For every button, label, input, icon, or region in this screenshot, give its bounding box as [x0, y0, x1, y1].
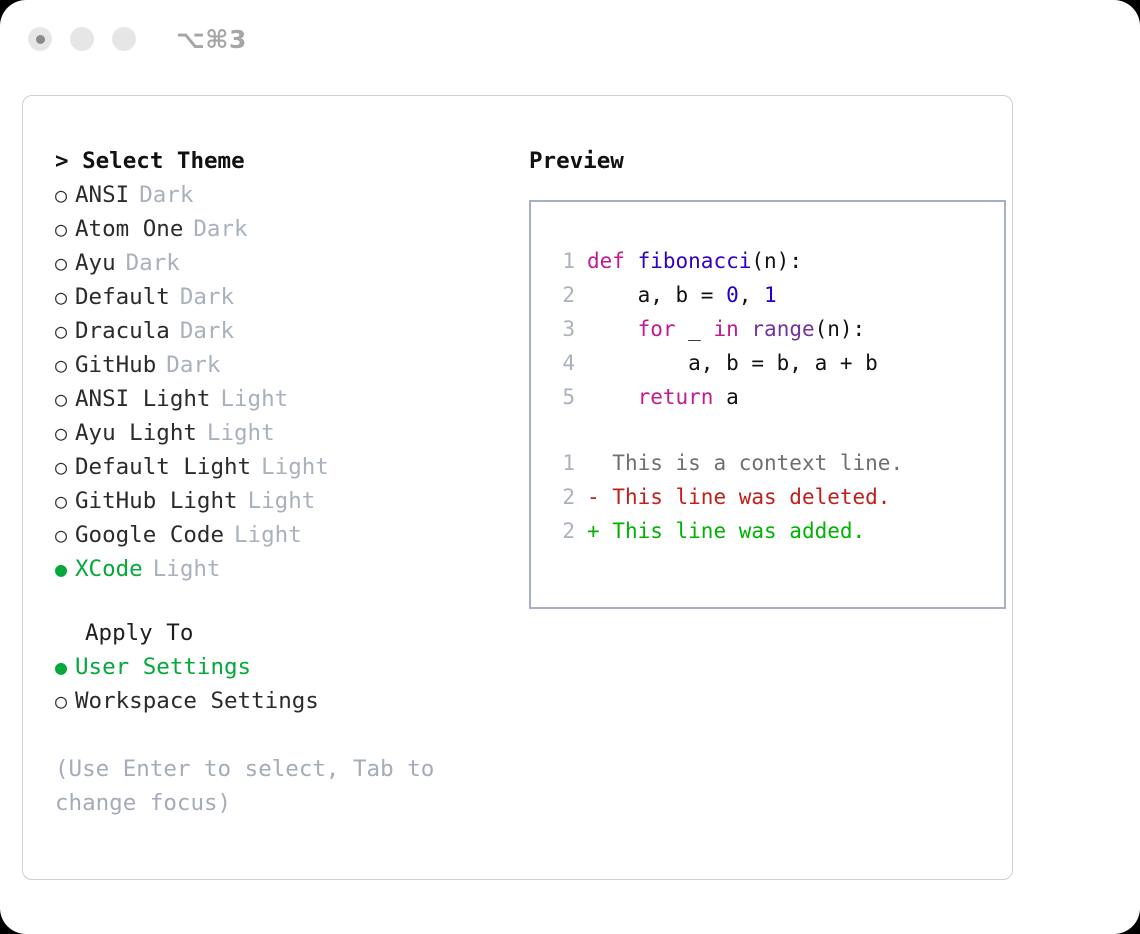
radio-unselected-icon: ○	[55, 416, 75, 450]
code-token: a, b =	[587, 283, 726, 307]
theme-option-variant: Light	[234, 518, 302, 552]
code-line-number: 3	[549, 312, 575, 346]
code-token: range	[751, 317, 814, 341]
code-line: 4 a, b = b, a + b	[549, 346, 1004, 380]
code-token	[739, 317, 752, 341]
radio-unselected-icon: ○	[55, 348, 75, 382]
code-token: (n):	[815, 317, 866, 341]
theme-option-label: GitHub Light	[75, 484, 238, 518]
preview-column: Preview 1def fibonacci(n):2 a, b = 0, 13…	[509, 144, 1012, 879]
diff-line-number: 2	[549, 514, 575, 548]
diff-line: 2+ This line was added.	[549, 514, 1004, 548]
diff-line-number: 2	[549, 480, 575, 514]
code-token: _	[676, 317, 714, 341]
radio-unselected-icon: ○	[55, 518, 75, 552]
radio-selected-icon: ●	[55, 552, 75, 586]
diff-sample: 1 This is a context line.2- This line wa…	[549, 446, 1004, 548]
diff-line-number: 1	[549, 446, 575, 480]
theme-option-label: Google Code	[75, 518, 224, 552]
apply-to-option-list[interactable]: ●User Settings○Workspace Settings	[55, 650, 509, 718]
code-token: a	[713, 385, 738, 409]
code-line: 1def fibonacci(n):	[549, 244, 1004, 278]
keyboard-shortcut-label: ⌥⌘3	[176, 25, 247, 54]
diff-text: This is a context line.	[600, 451, 903, 475]
theme-option-label: XCode	[75, 552, 143, 586]
radio-unselected-icon: ○	[55, 212, 75, 246]
code-token: ,	[739, 283, 764, 307]
radio-unselected-icon: ○	[55, 484, 75, 518]
theme-option[interactable]: ○Google CodeLight	[55, 518, 509, 552]
window-controls	[28, 27, 136, 51]
code-line: 2 a, b = 0, 1	[549, 278, 1004, 312]
theme-option[interactable]: ●XCodeLight	[55, 552, 509, 586]
diff-line: 1 This is a context line.	[549, 446, 1004, 480]
theme-option[interactable]: ○AyuDark	[55, 246, 509, 280]
diff-text: This line was deleted.	[600, 485, 891, 509]
code-token: fibonacci	[638, 249, 752, 273]
theme-option-label: GitHub	[75, 348, 156, 382]
apply-to-option[interactable]: ○Workspace Settings	[55, 684, 509, 718]
code-token: def	[587, 249, 625, 273]
app-window: ⌥⌘3 > Select Theme ○ANSIDark○Atom OneDar…	[0, 0, 1140, 934]
diff-marker: +	[587, 519, 600, 543]
code-token: a, b = b, a + b	[587, 351, 878, 375]
window-titlebar: ⌥⌘3	[0, 0, 1140, 78]
theme-option-label: Ayu	[75, 246, 116, 280]
code-token	[587, 317, 638, 341]
radio-selected-icon: ●	[55, 650, 75, 684]
radio-unselected-icon: ○	[55, 382, 75, 416]
keyboard-hint-text: (Use Enter to select, Tab to change focu…	[55, 752, 475, 820]
radio-unselected-icon: ○	[55, 280, 75, 314]
apply-to-heading: Apply To	[55, 616, 509, 650]
window-light-3-icon[interactable]	[112, 27, 136, 51]
code-token: for	[638, 317, 676, 341]
theme-option-label: Default Light	[75, 450, 251, 484]
theme-option-variant: Dark	[180, 280, 234, 314]
theme-option-label: Ayu Light	[75, 416, 197, 450]
code-token	[587, 385, 638, 409]
theme-option[interactable]: ○ANSI LightLight	[55, 382, 509, 416]
theme-option-label: ANSI	[75, 178, 129, 212]
theme-option-label: Default	[75, 280, 170, 314]
theme-option-variant: Light	[220, 382, 288, 416]
code-token: 1	[764, 283, 777, 307]
diff-text: This line was added.	[600, 519, 866, 543]
apply-to-option-label: Workspace Settings	[75, 684, 319, 718]
preview-heading: Preview	[529, 144, 1012, 178]
window-light-record-icon[interactable]	[28, 27, 52, 51]
radio-unselected-icon: ○	[55, 684, 75, 718]
code-line: 5 return a	[549, 380, 1004, 414]
theme-option-variant: Light	[153, 552, 221, 586]
radio-unselected-icon: ○	[55, 314, 75, 348]
theme-option-variant: Light	[248, 484, 316, 518]
code-line-number: 5	[549, 380, 575, 414]
code-token: 0	[726, 283, 739, 307]
theme-selector-card: > Select Theme ○ANSIDark○Atom OneDark○Ay…	[22, 95, 1013, 880]
code-sample: 1def fibonacci(n):2 a, b = 0, 13 for _ i…	[549, 244, 1004, 414]
code-line-number: 4	[549, 346, 575, 380]
code-token: return	[638, 385, 714, 409]
window-light-2-icon[interactable]	[70, 27, 94, 51]
theme-option-variant: Dark	[126, 246, 180, 280]
code-line: 3 for _ in range(n):	[549, 312, 1004, 346]
code-line-number: 2	[549, 278, 575, 312]
code-token: in	[713, 317, 738, 341]
diff-marker	[587, 451, 600, 475]
record-dot-icon	[36, 35, 45, 44]
theme-option-variant: Light	[261, 450, 329, 484]
theme-option-label: Atom One	[75, 212, 183, 246]
select-theme-heading: > Select Theme	[55, 144, 509, 178]
theme-option[interactable]: ○Ayu LightLight	[55, 416, 509, 450]
theme-option[interactable]: ○DefaultDark	[55, 280, 509, 314]
apply-to-option-label: User Settings	[75, 650, 251, 684]
theme-option-variant: Dark	[180, 314, 234, 348]
radio-unselected-icon: ○	[55, 450, 75, 484]
diff-marker: -	[587, 485, 600, 509]
theme-list-column: > Select Theme ○ANSIDark○Atom OneDark○Ay…	[39, 144, 509, 879]
radio-unselected-icon: ○	[55, 178, 75, 212]
radio-unselected-icon: ○	[55, 246, 75, 280]
theme-option-variant: Dark	[166, 348, 220, 382]
theme-option-variant: Light	[207, 416, 275, 450]
theme-option[interactable]: ○Default LightLight	[55, 450, 509, 484]
apply-to-option[interactable]: ●User Settings	[55, 650, 509, 684]
theme-option[interactable]: ○Atom OneDark	[55, 212, 509, 246]
theme-option-variant: Dark	[139, 178, 193, 212]
code-line-number: 1	[549, 244, 575, 278]
theme-option[interactable]: ○DraculaDark	[55, 314, 509, 348]
theme-option-label: ANSI Light	[75, 382, 210, 416]
theme-option-list[interactable]: ○ANSIDark○Atom OneDark○AyuDark○DefaultDa…	[55, 178, 509, 586]
theme-option-variant: Dark	[193, 212, 247, 246]
theme-preview-box: 1def fibonacci(n):2 a, b = 0, 13 for _ i…	[529, 200, 1006, 609]
diff-line: 2- This line was deleted.	[549, 480, 1004, 514]
theme-option[interactable]: ○ANSIDark	[55, 178, 509, 212]
theme-option-label: Dracula	[75, 314, 170, 348]
code-token	[625, 249, 638, 273]
theme-option[interactable]: ○GitHub LightLight	[55, 484, 509, 518]
code-token: (n):	[751, 249, 802, 273]
theme-option[interactable]: ○GitHubDark	[55, 348, 509, 382]
